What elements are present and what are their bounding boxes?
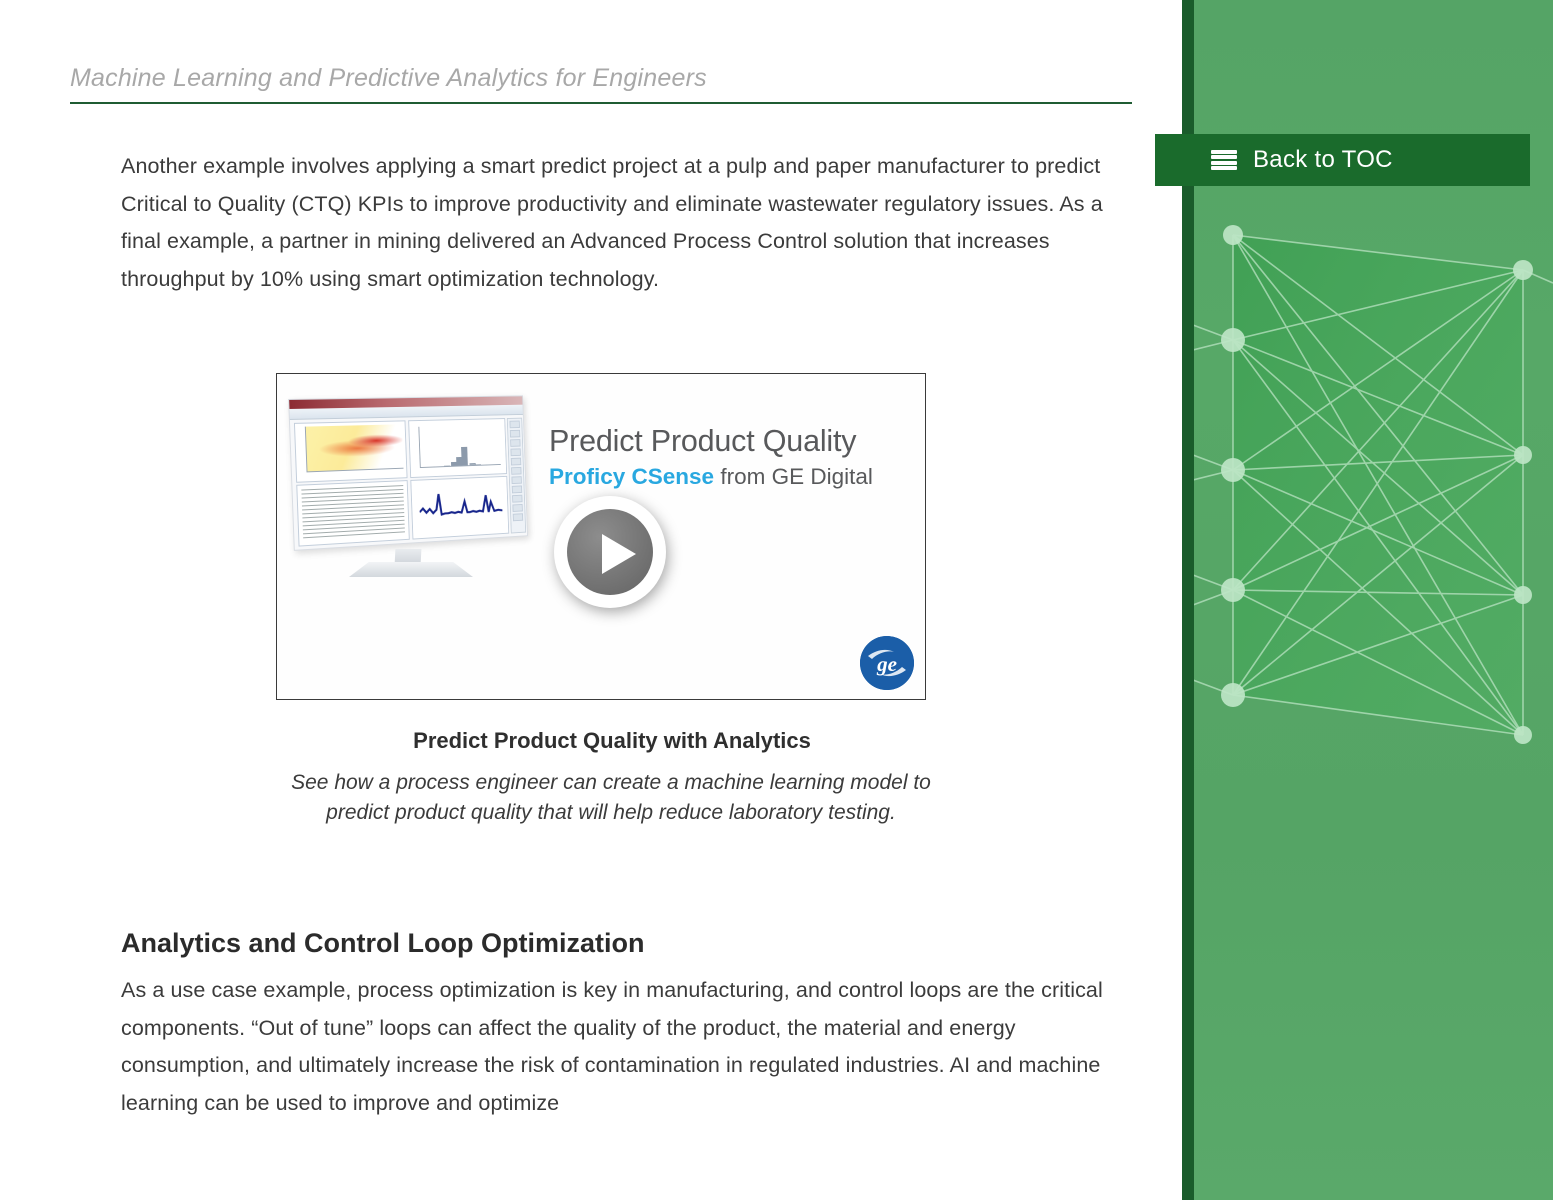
histogram-graphic (418, 425, 500, 468)
panel-time-series (410, 476, 509, 540)
running-head: Machine Learning and Predictive Analytic… (70, 64, 1132, 93)
section-heading: Analytics and Control Loop Optimization (121, 928, 1103, 959)
panel-data-table (296, 480, 409, 547)
paragraph-bottom: As a use case example, process optimizat… (121, 972, 1103, 1122)
caption-body: See how a process engineer can create a … (281, 768, 941, 828)
svg-text:ge: ge (876, 652, 897, 676)
caption-title: Predict Product Quality with Analytics (121, 728, 1103, 754)
play-icon (602, 534, 636, 574)
back-to-toc-label: Back to TOC (1253, 146, 1393, 174)
play-button[interactable] (554, 496, 666, 608)
video-thumbnail-card[interactable]: Predict Product Quality Proficy CSense f… (276, 373, 926, 700)
product-brand-tail: from GE Digital (714, 464, 873, 489)
paragraph-top: Another example involves applying a smar… (121, 148, 1103, 298)
scatter-plot-graphic (305, 424, 404, 472)
content-column: Machine Learning and Predictive Analytic… (0, 0, 1155, 1200)
time-series-graphic (419, 483, 503, 530)
monitor-screen (288, 395, 528, 550)
neural-network-decoration (1193, 175, 1553, 785)
page: Machine Learning and Predictive Analytic… (0, 0, 1553, 1200)
ge-logo: ge (860, 636, 914, 690)
video-subheadline: Proficy CSense from GE Digital (549, 464, 926, 490)
data-table-graphic (301, 485, 405, 541)
back-to-toc-button[interactable]: Back to TOC (1155, 134, 1530, 186)
monitor-base (349, 562, 473, 577)
header-rule (70, 102, 1132, 104)
hamburger-menu-icon (1211, 150, 1237, 170)
video-headline: Predict Product Quality (549, 424, 909, 459)
panel-histogram (408, 418, 507, 478)
panel-scatter-plot (294, 420, 408, 482)
monitor-sidebar-controls (507, 418, 526, 534)
video-thumbnail-inner: Predict Product Quality Proficy CSense f… (277, 374, 925, 699)
monitor-illustration (291, 399, 549, 574)
product-brand-name: Proficy CSense (549, 464, 714, 489)
